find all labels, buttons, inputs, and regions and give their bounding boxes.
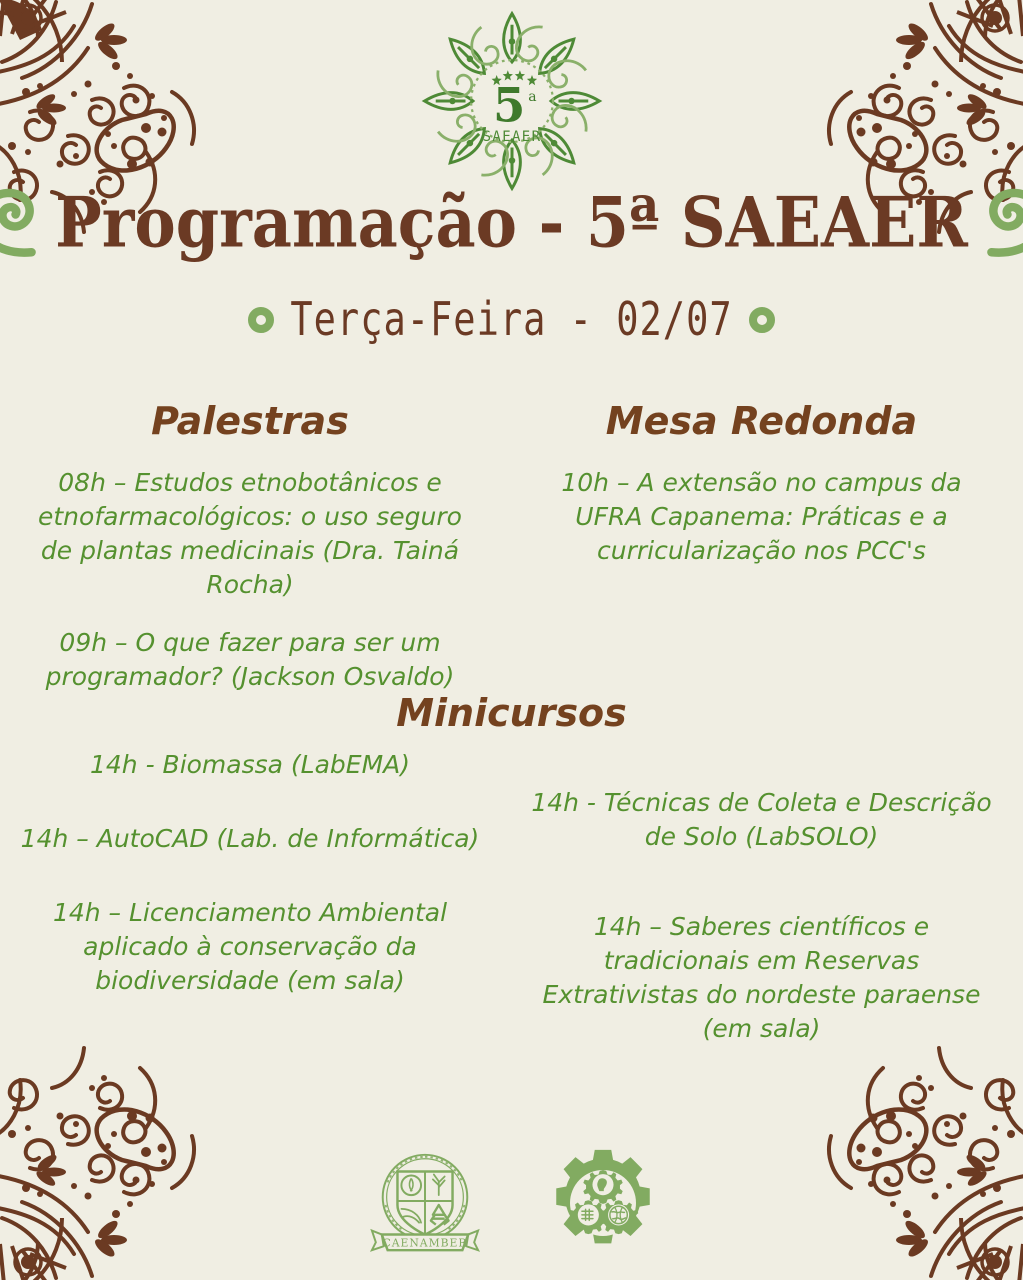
logo-number: 5 (493, 77, 525, 132)
section-heading-palestras: Palestras (22, 402, 478, 440)
list-item: 14h - Biomassa (LabEMA) (18, 748, 482, 782)
list-item: 09h – O que fazer para ser um programado… (22, 626, 478, 694)
section-palestras: Palestras 08h – Estudos etnobotânicos e … (0, 402, 500, 718)
spiral-swirl-ornament-left (0, 188, 41, 258)
section-heading-minicursos: Minicursos (0, 694, 1023, 732)
caenamber-crest-logo: CAENAMBER (366, 1144, 484, 1262)
title-row: Programação - 5ª SAEAER (0, 188, 1023, 258)
page-title: Programação - 5ª SAEAER (55, 188, 968, 257)
minicursos-column-right: 14h - Técnicas de Coleta e Descrição de … (500, 748, 1023, 1086)
spiral-swirl-ornament-right (982, 188, 1023, 258)
list-item: 14h – Licenciamento Ambiental aplicado à… (18, 896, 482, 998)
section-minicursos: 14h - Biomassa (LabEMA) 14h – AutoCAD (L… (0, 748, 1023, 1086)
list-item: 14h – AutoCAD (Lab. de Informática) (18, 822, 482, 856)
subtitle-row: Terça-Feira - 02/07 (0, 298, 1023, 341)
ring-ornament-left (248, 307, 274, 333)
section-mesa-redonda: Mesa Redonda 10h – A extensão no campus … (500, 402, 1023, 718)
logo-ordinal: a (528, 89, 536, 105)
footer-logos: CAENAMBER (366, 1144, 658, 1262)
list-item: 08h – Estudos etnobotânicos e etnofarmac… (22, 466, 478, 602)
section-heading-mesa-redonda: Mesa Redonda (524, 402, 999, 440)
list-item: 10h – A extensão no campus da UFRA Capan… (524, 466, 999, 568)
logo-acronym: SAEAER (482, 129, 541, 145)
ring-ornament-right (749, 307, 775, 333)
page-subtitle: Terça-Feira - 02/07 (290, 293, 732, 347)
list-item: 14h – Saberes científicos e tradicionais… (530, 910, 993, 1046)
poster-canvas: 5 a SAEAER Programação - 5ª SAEAER Terça… (0, 0, 1023, 1280)
saeaer-mandala-logo: 5 a SAEAER (417, 8, 607, 194)
upper-sections: Palestras 08h – Estudos etnobotânicos e … (0, 402, 1023, 718)
crest-label: CAENAMBER (382, 1236, 467, 1249)
list-item: 14h - Técnicas de Coleta e Descrição de … (530, 786, 993, 854)
gear-emblem-logo (548, 1148, 658, 1258)
minicursos-column-left: 14h - Biomassa (LabEMA) 14h – AutoCAD (L… (0, 748, 500, 1086)
